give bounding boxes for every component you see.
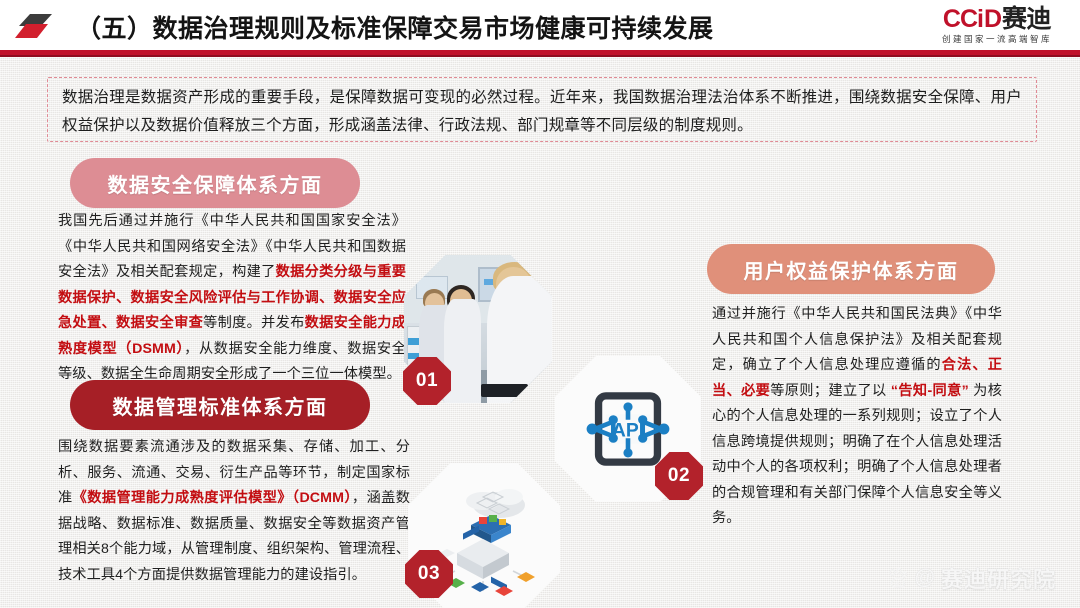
page-title: （五）数据治理规则及标准保障交易市场健康可持续发展 xyxy=(76,9,714,45)
page-header: （五）数据治理规则及标准保障交易市场健康可持续发展 CCiD赛迪 创建国家一流高… xyxy=(0,0,1080,50)
red-parallelogram-logo-icon xyxy=(14,13,66,39)
banner-data-security: 数据安全保障体系方面 xyxy=(70,158,360,208)
media-badge-01: 01 xyxy=(403,357,451,405)
highlighted-text: 《数据管理能力成熟度评估模型》（DCMM） xyxy=(73,490,352,506)
intro-box: 数据治理是数据资产形成的重要手段，是保障数据可变现的必然过程。近年来，我国数据治… xyxy=(47,77,1037,142)
brand-cc-text: CC xyxy=(943,5,977,33)
body-text: 为核心的个人信息处理的一系列规则；设立了个人信息跨境提供规则；明确了在个人信息处… xyxy=(712,383,1002,527)
intro-text: 数据治理是数据资产形成的重要手段，是保障数据可变现的必然过程。近年来，我国数据治… xyxy=(62,84,1022,140)
body-text: 等制度。并发布 xyxy=(203,315,305,331)
slide-body: 数据治理是数据资产形成的重要手段，是保障数据可变现的必然过程。近年来，我国数据治… xyxy=(0,57,1080,608)
svg-text:du: du xyxy=(894,581,900,587)
watermark-text: 赛迪研究院 xyxy=(941,562,1056,594)
brand-d-text: D xyxy=(984,5,1002,33)
paragraph-user-rights: 通过并施行《中华人民共和国民法典》《中华人民共和国个人信息保护法》及相关配套规定… xyxy=(712,302,1002,532)
media-badge-02: 02 xyxy=(655,452,703,500)
brand-cn-text: 赛迪 xyxy=(1002,5,1051,33)
body-text: 等原则；建立了以 xyxy=(770,383,886,399)
banner-data-management: 数据管理标准体系方面 xyxy=(70,380,370,430)
watermark-at-sign: @ xyxy=(915,566,935,590)
paragraph-data-security: 我国先后通过并施行《中华人民共和国国家安全法》《中华人民共和国网络安全法》《中华… xyxy=(58,209,406,388)
baidu-paw-icon: du xyxy=(887,567,909,589)
watermark: du @ 赛迪研究院 xyxy=(887,562,1057,594)
media-badge-03: 03 xyxy=(405,550,453,598)
brand-i-text: i xyxy=(977,5,984,33)
api-label: API xyxy=(612,420,644,441)
highlighted-text: “告知-同意” xyxy=(887,383,974,399)
ccid-brand-logo: CCiD赛迪 创建国家一流高端智库 xyxy=(922,6,1072,46)
brand-subtitle: 创建国家一流高端智库 xyxy=(922,33,1072,45)
paragraph-data-management: 围绕数据要素流通涉及的数据采集、存储、加工、分析、服务、流通、交易、衍生产品等环… xyxy=(58,435,410,588)
banner-user-rights: 用户权益保护体系方面 xyxy=(707,244,995,294)
header-divider-rule-shadow xyxy=(0,55,1080,57)
